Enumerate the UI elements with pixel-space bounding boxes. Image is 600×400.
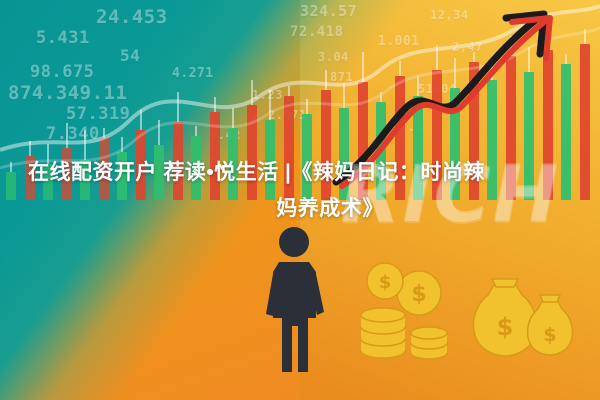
person-silhouette bbox=[252, 222, 362, 392]
svg-text:$: $ bbox=[379, 272, 392, 293]
headline-text: 在线配资开户 荐读•悦生活 |《辣妈日记：时尚辣 妈养成术》 bbox=[0, 155, 600, 227]
svg-text:$: $ bbox=[543, 324, 556, 346]
money-bag-icon: $ $ bbox=[470, 255, 580, 365]
banner-image: 24.453324.5712,345.43172.4181.001543.042… bbox=[0, 0, 600, 400]
svg-text:$: $ bbox=[411, 282, 426, 307]
headline-line-1: 在线配资开户 荐读•悦生活 |《辣妈日记：时尚辣 bbox=[0, 155, 600, 191]
svg-text:$: $ bbox=[497, 313, 514, 341]
coin-stack-icon: $ $ bbox=[355, 255, 465, 365]
headline-line-2: 妈养成术》 bbox=[0, 191, 600, 227]
